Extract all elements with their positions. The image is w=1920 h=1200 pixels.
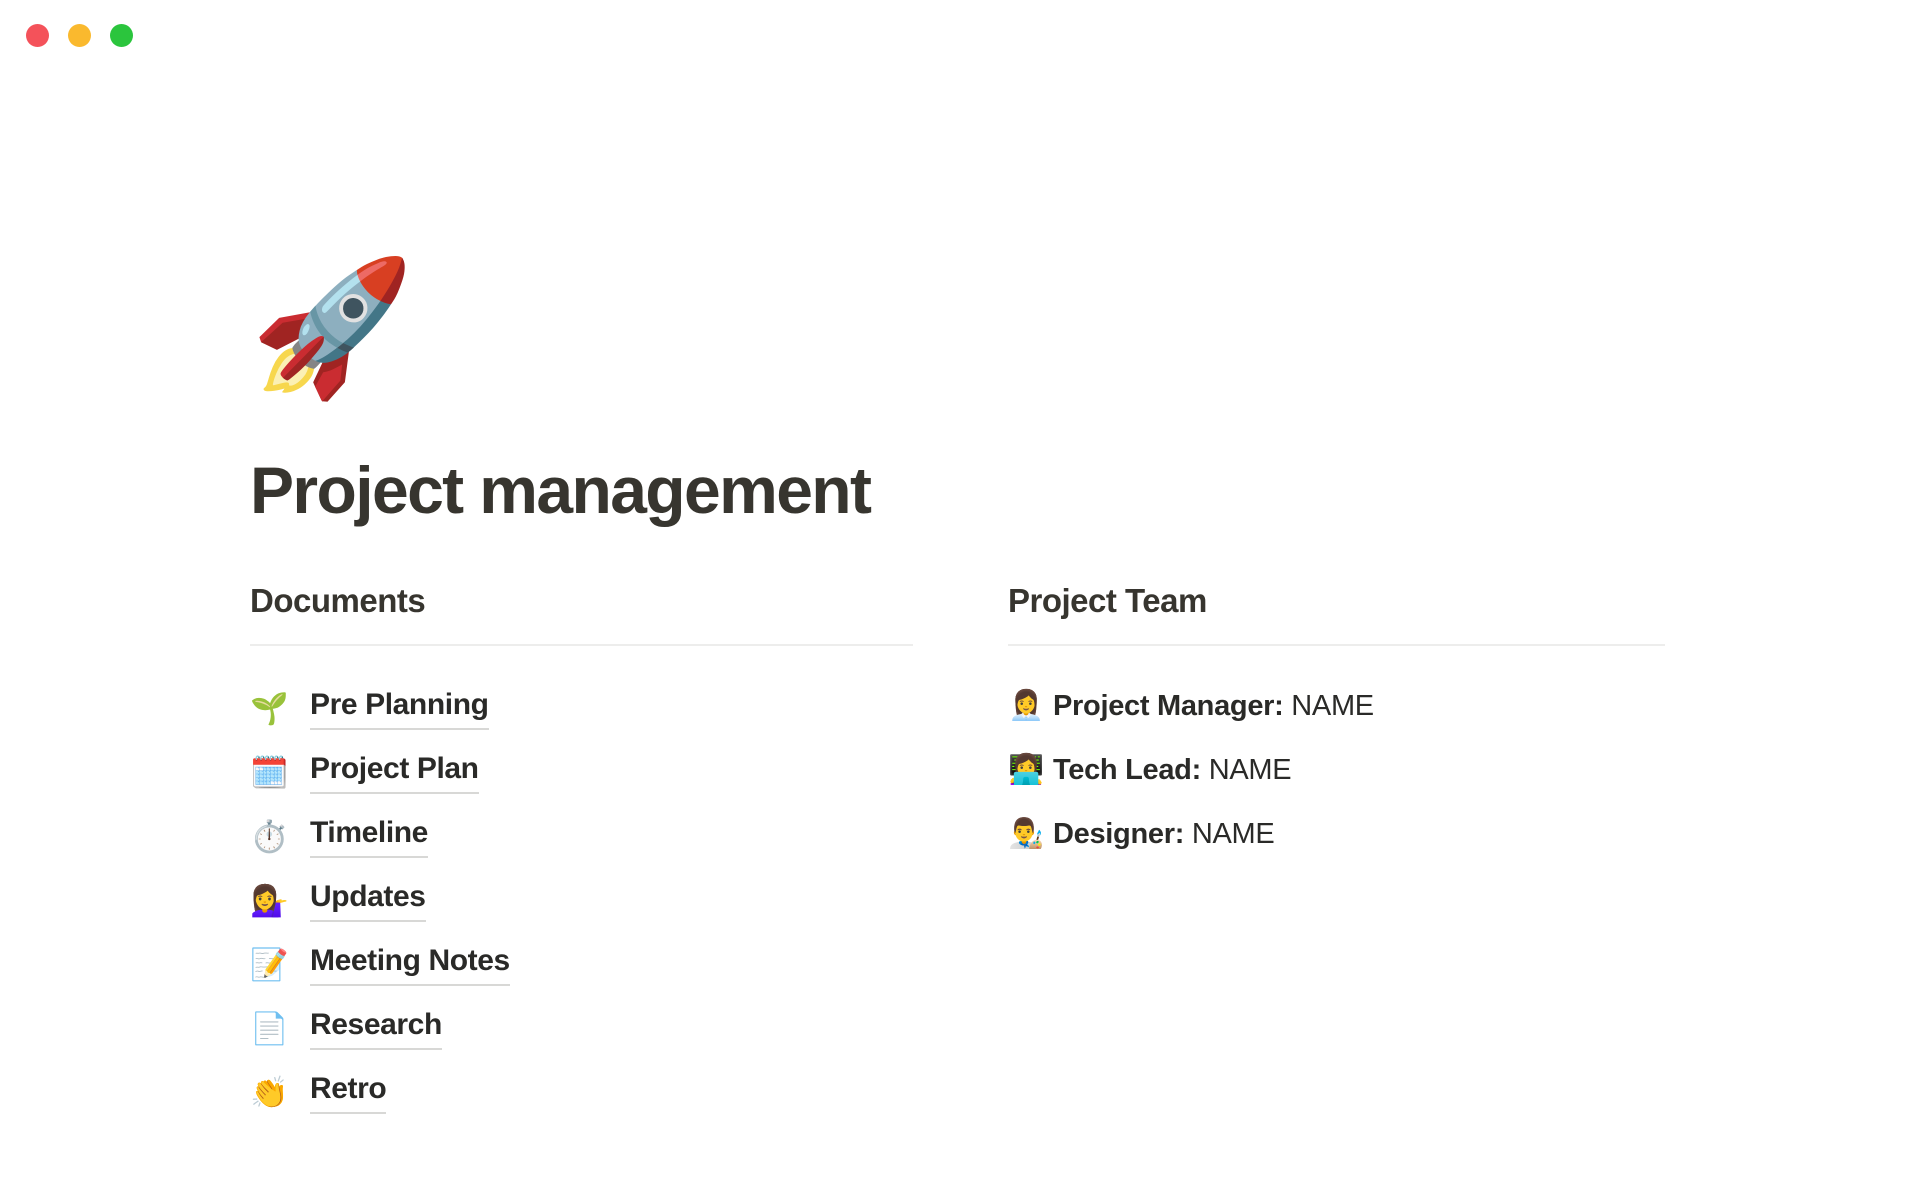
- list-item[interactable]: 👏 Retro: [250, 1060, 913, 1124]
- list-item[interactable]: 💁‍♀️ Updates: [250, 868, 913, 932]
- team-list: 👩‍💼 Project Manager: NAME 👩‍💻 Tech Lead:…: [1008, 674, 1665, 866]
- documents-divider: [250, 644, 913, 646]
- team-heading: Project Team: [1008, 580, 1665, 621]
- team-role-label: Tech Lead:: [1053, 754, 1201, 786]
- spiral-notepad-emoji: 🗓️: [250, 757, 310, 788]
- documents-column: Documents 🌱 Pre Planning 🗓️ Project Plan…: [250, 580, 913, 1124]
- document-link-timeline[interactable]: Timeline: [310, 815, 428, 858]
- stopwatch-emoji: ⏱️: [250, 821, 310, 852]
- team-role-label: Project Manager:: [1053, 690, 1284, 722]
- rocket-emoji[interactable]: 🚀: [250, 262, 1920, 424]
- team-member-tech-lead: Tech Lead: NAME: [1053, 753, 1291, 788]
- team-divider: [1008, 644, 1665, 646]
- list-item: 👨‍🎨 Designer: NAME: [1008, 802, 1665, 866]
- team-member-name: NAME: [1291, 690, 1374, 722]
- list-item: 👩‍💻 Tech Lead: NAME: [1008, 738, 1665, 802]
- team-column: Project Team 👩‍💼 Project Manager: NAME 👩…: [1008, 580, 1665, 1124]
- team-member-name: NAME: [1209, 754, 1292, 786]
- list-item[interactable]: 🌱 Pre Planning: [250, 676, 913, 740]
- team-role-label: Designer:: [1053, 818, 1184, 850]
- list-item: 👩‍💼 Project Manager: NAME: [1008, 674, 1665, 738]
- column-gap: [913, 580, 1008, 1124]
- app-window: 🚀 Project management Documents 🌱 Pre Pla…: [0, 0, 1920, 1200]
- page-title[interactable]: Project management: [250, 454, 1920, 528]
- page-facing-up-emoji: 📄: [250, 1013, 310, 1044]
- documents-list: 🌱 Pre Planning 🗓️ Project Plan ⏱️ Timeli…: [250, 676, 913, 1124]
- woman-technologist-emoji: 👩‍💻: [1008, 756, 1053, 785]
- documents-heading: Documents: [250, 580, 913, 621]
- document-link-retro[interactable]: Retro: [310, 1071, 386, 1114]
- team-member-name: NAME: [1192, 818, 1275, 850]
- woman-tipping-hand-emoji: 💁‍♀️: [250, 885, 310, 916]
- list-item[interactable]: 📝 Meeting Notes: [250, 932, 913, 996]
- clapping-hands-emoji: 👏: [250, 1077, 310, 1108]
- document-link-research[interactable]: Research: [310, 1007, 442, 1050]
- list-item[interactable]: 📄 Research: [250, 996, 913, 1060]
- team-member-designer: Designer: NAME: [1053, 817, 1274, 852]
- document-link-project-plan[interactable]: Project Plan: [310, 751, 479, 794]
- seedling-emoji: 🌱: [250, 693, 310, 724]
- document-link-updates[interactable]: Updates: [310, 879, 426, 922]
- page-content: 🚀 Project management Documents 🌱 Pre Pla…: [0, 0, 1920, 1200]
- document-link-pre-planning[interactable]: Pre Planning: [310, 687, 489, 730]
- column-container: Documents 🌱 Pre Planning 🗓️ Project Plan…: [250, 580, 1670, 1124]
- list-item[interactable]: 🗓️ Project Plan: [250, 740, 913, 804]
- team-member-project-manager: Project Manager: NAME: [1053, 689, 1374, 724]
- list-item[interactable]: ⏱️ Timeline: [250, 804, 913, 868]
- woman-office-worker-emoji: 👩‍💼: [1008, 692, 1053, 721]
- document-link-meeting-notes[interactable]: Meeting Notes: [310, 943, 510, 986]
- memo-emoji: 📝: [250, 949, 310, 980]
- man-artist-emoji: 👨‍🎨: [1008, 820, 1053, 849]
